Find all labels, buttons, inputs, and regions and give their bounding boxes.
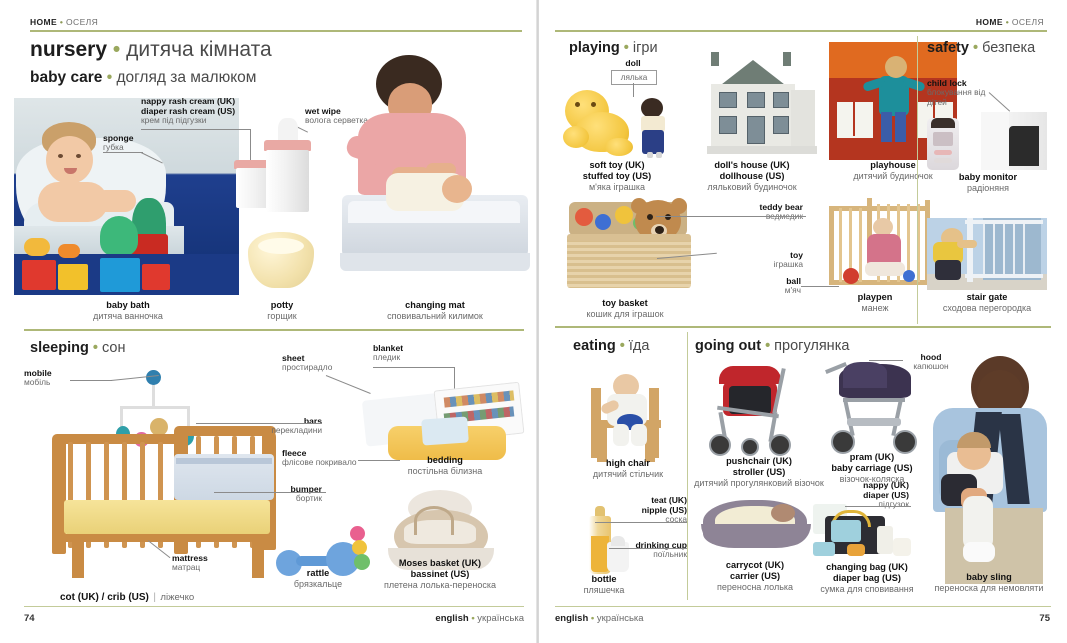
playing-en: playing [569,40,620,56]
caption-baby-monitor-en: baby monitor [923,172,1053,183]
book-spread: HOME • ОСЕЛЯ nursery • дитяча кімната ba… [0,0,1067,643]
photo-toy-basket [565,196,695,296]
callout-teddy-bear-uk: ведмедик [699,212,803,222]
running-head-right-en: HOME [976,17,1003,27]
caption-moses-basket-uk-term: Moses basket (UK) [376,558,504,569]
callout-teat-uk-term: teat (UK) [601,495,687,505]
caption-potty-uk: горщик [222,311,342,322]
callout-child-lock-uk: блокування від дітей [927,88,993,108]
caption-cot-crib-sep: | [153,592,156,603]
callout-nappy-rash-cream-uk-term: nappy rash cream (UK) [141,96,235,106]
caption-potty-en: potty [222,300,342,311]
section-heading-going-out: going out • прогулянка [695,338,849,354]
section-heading-safety: safety • безпека [927,40,1035,56]
caption-bottle-en: bottle [565,574,643,585]
leader-sponge [103,152,143,153]
callout-sheet-uk: простирадло [282,363,332,373]
caption-soft-toy-uk-term: soft toy (UK) [561,160,673,171]
caption-moses-basket: Moses basket (UK) bassinet (US) плетена … [376,558,504,591]
leader-teat [595,522,687,523]
section-heading-playing: playing • ігри [569,40,658,56]
playing-dot: • [624,40,629,56]
caption-cot-crib-en: cot (UK) / crib (US) [60,592,149,603]
caption-changing-mat: changing mat сповивальний килимок [350,300,520,322]
leader-hood [869,360,903,361]
leader-drinking-cup [609,548,687,549]
callout-blanket-uk: пледик [373,353,403,363]
footer-right-dot: • [591,613,594,624]
caption-dolls-house: doll's house (UK) dollhouse (US) ляльков… [681,160,823,193]
caption-carrycot: carrycot (UK) carrier (US) переносна лол… [691,560,819,593]
callout-bars-uk: перекладини [240,426,322,436]
footer-rule-left [24,606,524,607]
footer-rule-right [555,606,1051,607]
caption-stair-gate: stair gate сходова перегородка [921,292,1053,314]
callout-ball: ball м'яч [731,276,801,296]
photo-stair-gate [927,218,1047,290]
caption-bottle-uk: пляшечка [565,585,643,596]
running-head-right: HOME • ОСЕЛЯ [976,17,1044,27]
callout-nappy-rash-cream-uk: крем під підгузки [141,116,235,126]
caption-bedding: bedding постільна білизна [390,455,500,477]
callout-sponge: sponge губка [103,133,134,153]
photo-dolls-house [691,46,819,160]
photo-potty [244,228,319,296]
photo-wet-wipe [260,118,316,218]
section-heading-eating: eating • їда [573,338,649,354]
photo-baby-monitor [925,112,1049,170]
page-number-left-value: 74 [24,613,35,624]
callout-fleece: fleece флісове покривало [282,448,357,468]
callout-doll-en: doll [611,58,655,68]
eating-en: eating [573,338,616,354]
sleeping-uk: сон [102,340,126,356]
caption-baby-sling-en: baby sling [925,572,1053,583]
running-head-sep: • [60,17,63,27]
running-head-left: HOME • ОСЕЛЯ [30,17,98,27]
caption-toy-basket-uk: кошик для іграшок [555,309,695,320]
playing-uk: ігри [633,40,658,56]
footer-left-dot: • [471,613,474,624]
photo-pushchair [701,364,809,460]
eating-uk: їда [629,338,650,354]
callout-doll: doll [611,58,655,68]
caption-carrier-us-term: carrier (US) [691,571,819,582]
safety-en: safety [927,40,969,56]
callout-child-lock: child lock блокування від дітей [927,78,993,108]
caption-baby-bath: baby bath дитяча ванночка [58,300,198,322]
sleeping-dot: • [93,340,98,356]
leader-mobile [70,380,112,381]
callout-ball-uk: м'яч [731,286,801,296]
photo-high-chair [579,368,675,464]
footer-left-uk: українська [477,613,524,624]
caption-cot-crib: cot (UK) / crib (US) | ліжечко [60,587,194,606]
going-out-column-divider [687,332,688,600]
caption-baby-sling: baby sling переноска для немовляти [925,572,1053,594]
running-head-en: HOME [30,17,57,27]
page-number-right-value: 75 [1039,613,1050,624]
caption-bedding-en: bedding [390,455,500,466]
eating-dot: • [620,338,625,354]
caption-baby-monitor-uk: радіоняня [923,183,1053,194]
page-title-nursery: nursery • дитяча кімната [30,38,272,62]
caption-moses-basket-us-term: bassinet (US) [376,569,504,580]
callout-toy-uk: іграшка [715,260,803,270]
caption-changing-bag-uk: сумка для сповивання [801,584,933,595]
callout-mobile-uk: мобіль [24,378,52,388]
safety-uk: безпека [982,40,1035,56]
section-divider-right [555,326,1051,328]
right-page: HOME • ОСЕЛЯ playing • ігри doll лялька [538,0,1067,643]
caption-toy-basket-en: toy basket [555,298,695,309]
baby-care-en: baby care [30,69,102,86]
header-rule-right [555,30,1047,32]
photo-baby-bath [14,98,239,295]
leader-nappy [845,506,911,507]
callout-toy: toy іграшка [715,250,803,270]
callout-mattress: mattress матрац [172,553,208,573]
caption-carrycot-uk-term: carrycot (UK) [691,560,819,571]
caption-carrycot-uk: переносна лолька [691,582,819,593]
callout-drinking-cup-uk: поїльник [605,550,687,560]
caption-potty: potty горщик [222,300,342,322]
caption-high-chair-en: high chair [569,458,687,469]
photo-baby-sling [911,356,1061,584]
running-head-right-sep: • [1006,17,1009,27]
caption-baby-sling-uk: переноска для немовляти [925,583,1053,594]
photo-soft-toy [561,80,671,160]
going-out-en: going out [695,338,761,354]
callout-blanket: blanket пледик [373,343,403,363]
page-number-right: 75 [1039,613,1050,624]
caption-changing-mat-uk: сповивальний килимок [350,311,520,322]
caption-soft-toy: soft toy (UK) stuffed toy (US) м'яка ігр… [561,160,673,193]
leader-blanket [373,367,455,368]
caption-cot-crib-uk: ліжечко [160,592,194,603]
caption-dolls-house-us-term: dollhouse (US) [681,171,823,182]
callout-nappy-rash-cream: nappy rash cream (UK) diaper rash cream … [141,96,235,126]
safety-column-divider [917,36,918,324]
caption-baby-bath-en: baby bath [58,300,198,311]
page-title-uk: дитяча кімната [126,38,272,61]
caption-high-chair: high chair дитячий стільчик [569,458,687,480]
callout-mattress-uk: матрац [172,563,208,573]
section-heading-sleeping: sleeping • сон [30,340,125,356]
running-head-right-uk: ОСЕЛЯ [1012,17,1044,27]
footer-right-uk: українська [597,613,644,624]
left-page: HOME • ОСЕЛЯ nursery • дитяча кімната ba… [0,0,538,643]
going-out-dot: • [765,338,770,354]
callout-bumper: bumper бортик [244,484,322,504]
callout-drinking-cup: drinking cup поїльник [605,540,687,560]
caption-moses-basket-uk: плетена лолька-переноска [376,580,504,591]
section-divider-left [24,329,524,331]
callout-mobile: mobile мобіль [24,368,52,388]
callout-teat-uk: соска [601,515,687,525]
leader-bars [196,423,322,424]
leader-nappy-rash [141,129,251,130]
callout-sheet: sheet простирадло [282,353,332,373]
safety-dot: • [973,40,978,56]
footer-right-en: english [555,613,588,624]
photo-cot-crib [24,370,294,585]
going-out-uk: прогулянка [774,338,849,354]
caption-bedding-uk: постільна білизна [390,466,500,477]
callout-bars: bars перекладини [240,416,322,436]
caption-baby-monitor: baby monitor радіоняня [923,172,1053,194]
caption-baby-bath-uk: дитяча ванночка [58,311,198,322]
callout-nappy-uk-term: nappy (UK) [821,480,909,490]
caption-rattle-uk: брязкальце [272,579,364,590]
photo-carrycot [697,492,815,560]
footer-left-en: english [435,613,468,624]
sleeping-en: sleeping [30,340,89,356]
caption-stair-gate-en: stair gate [921,292,1053,303]
section-heading-baby-care: baby care • догляд за малюком [30,69,256,87]
caption-toy-basket: toy basket кошик для іграшок [555,298,695,320]
callout-teddy-bear: teddy bear ведмедик [699,202,803,222]
header-rule-left [30,30,522,32]
page-title-dot: • [113,38,120,61]
caption-changing-mat-en: changing mat [350,300,520,311]
caption-rattle-en: rattle [272,568,364,579]
footer-left: english • українська [435,613,524,624]
page-number-left: 74 [24,613,35,624]
caption-dolls-house-uk-term: doll's house (UK) [681,160,823,171]
leader-bumper [214,492,326,493]
running-head-uk: ОСЕЛЯ [66,17,98,27]
caption-bottle: bottle пляшечка [565,574,643,596]
leader-teddy-bear [656,216,806,217]
callout-teat-nipple: teat (UK) nipple (US) соска [601,495,687,525]
baby-care-dot: • [107,69,112,86]
footer-right: english • українська [555,613,644,624]
callout-fleece-uk: флісове покривало [282,458,357,468]
baby-care-uk: догляд за малюком [116,69,256,86]
page-title-en: nursery [30,38,107,61]
caption-rattle: rattle брязкальце [272,568,364,590]
caption-dolls-house-uk: ляльковий будиночок [681,182,823,193]
photo-changing-mat [330,55,530,295]
caption-high-chair-uk: дитячий стільчик [569,469,687,480]
callout-bumper-uk: бортик [244,494,322,504]
caption-soft-toy-us-term: stuffed toy (US) [561,171,673,182]
caption-soft-toy-uk: м'яка іграшка [561,182,673,193]
caption-stair-gate-uk: сходова перегородка [921,303,1053,314]
